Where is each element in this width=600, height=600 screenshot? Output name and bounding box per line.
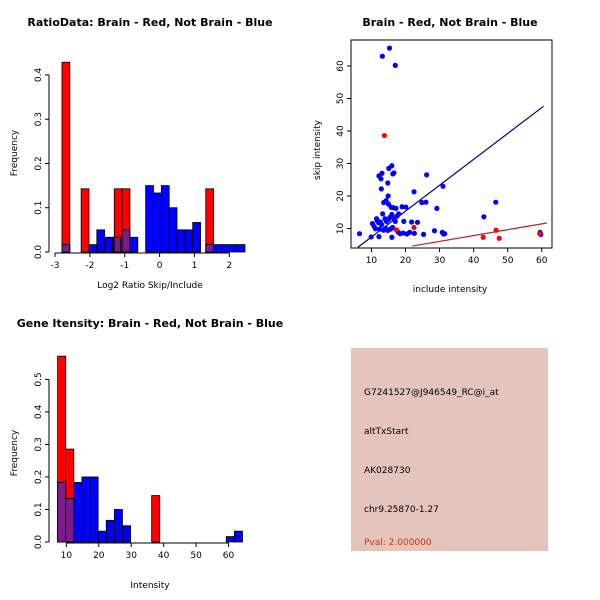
x-tick-label: 20	[93, 551, 105, 561]
y-tick-label: 0.2	[34, 470, 44, 484]
scatter-plot-ylabel: skip intensity	[313, 105, 323, 195]
histogram-bar-not-brain	[122, 526, 130, 542]
x-tick-label: -2	[85, 261, 94, 271]
histogram-bar-overlap	[206, 245, 214, 252]
scatter-point-brain	[411, 225, 416, 230]
scatter-point-brain	[394, 227, 399, 232]
histogram-bar-not-brain	[214, 245, 222, 252]
histogram-bar-not-brain	[89, 245, 97, 252]
scatter-point-not-brain	[401, 219, 406, 224]
scatter-point-not-brain	[409, 219, 414, 224]
y-tick-label: 30	[336, 158, 346, 170]
scatter-point-not-brain	[421, 232, 426, 237]
y-tick-label: 0.3	[34, 112, 44, 126]
x-tick-label: -3	[51, 261, 60, 271]
x-tick-label: 30	[434, 256, 446, 266]
event-type-text: altTxStart	[364, 427, 408, 437]
ratio-histogram-ylabel: Frequency	[10, 108, 20, 198]
histogram-bar-overlap	[66, 499, 74, 542]
scatter-point-not-brain	[378, 176, 383, 181]
histogram-bar-not-brain	[234, 531, 242, 542]
histogram-bar-not-brain	[98, 531, 106, 542]
histogram-bar-overlap	[62, 245, 70, 252]
histogram-bar-not-brain	[90, 477, 98, 542]
x-tick-label: 0	[157, 261, 163, 271]
gene-info-panel: G7241527@J946549_RC@i_at altTxStart AK02…	[351, 348, 548, 551]
histogram-bar-not-brain	[82, 477, 90, 542]
x-tick-label: 60	[536, 256, 548, 266]
scatter-point-not-brain	[387, 46, 392, 51]
scatter-point-not-brain	[393, 206, 398, 211]
histogram-bar-not-brain	[226, 537, 234, 542]
probe-id-text: G7241527@J946549_RC@i_at	[364, 388, 499, 398]
scatter-point-not-brain	[432, 228, 437, 233]
ratio-histogram-xlabel: Log2 Ratio Skip/Include	[0, 281, 300, 291]
scatter-point-not-brain	[424, 172, 429, 177]
y-tick-label: 60	[336, 60, 346, 72]
scatter-point-not-brain	[412, 231, 417, 236]
y-tick-label: 0.4	[34, 404, 44, 419]
histogram-bar-not-brain	[161, 186, 169, 252]
scatter-point-not-brain	[389, 235, 394, 240]
scatter-point-not-brain	[440, 184, 445, 189]
locus-text: chr9.25870-1.27	[364, 505, 439, 515]
gene-intensity-histogram-plot: 1020304050600.00.10.20.30.40.5	[0, 300, 300, 600]
scatter-point-not-brain	[423, 200, 428, 205]
histogram-bar-not-brain	[169, 208, 177, 252]
y-tick-label: 0.4	[34, 67, 44, 82]
scatter-plot-panel: Brain - Red, Not Brain - Blue 1020304050…	[300, 0, 600, 300]
x-tick-label: 1	[192, 261, 198, 271]
histogram-bar-not-brain	[146, 186, 154, 252]
y-tick-label: 20	[336, 190, 346, 202]
x-tick-label: -1	[120, 261, 129, 271]
y-tick-label: 0.5	[34, 372, 44, 386]
x-tick-label: 60	[223, 551, 235, 561]
histogram-bar-brain	[206, 189, 214, 252]
histogram-bar-brain	[152, 496, 160, 542]
trend-line-brain-fit	[412, 223, 547, 246]
scatter-point-not-brain	[379, 171, 384, 176]
scatter-point-not-brain	[391, 170, 396, 175]
scatter-point-brain	[481, 235, 486, 240]
scatter-point-not-brain	[415, 220, 420, 225]
histogram-bar-brain	[81, 189, 89, 252]
histogram-bar-overlap	[114, 237, 120, 252]
y-tick-label: 50	[336, 93, 346, 105]
histogram-bar-not-brain	[97, 230, 105, 252]
scatter-point-brain	[382, 133, 387, 138]
y-tick-label: 10	[336, 223, 346, 235]
scatter-point-not-brain	[380, 54, 385, 59]
gene-intensity-histogram-panel: Gene Itensity: Brain - Red, Not Brain - …	[0, 300, 300, 600]
histogram-bar-not-brain	[221, 245, 229, 252]
scatter-point-not-brain	[386, 193, 391, 198]
scatter-point-not-brain	[434, 206, 439, 211]
histogram-bar-not-brain	[153, 193, 161, 252]
histogram-bar-not-brain	[74, 482, 82, 542]
scatter-point-not-brain	[379, 186, 384, 191]
scatter-point-not-brain	[381, 200, 386, 205]
histogram-bar-not-brain	[229, 245, 237, 252]
ratio-histogram-title: RatioData: Brain - Red, Not Brain - Blue	[0, 16, 300, 29]
plot-content	[357, 46, 547, 248]
scatter-point-not-brain	[393, 219, 398, 224]
histogram-bar-not-brain	[114, 509, 122, 542]
scatter-point-not-brain	[357, 231, 362, 236]
x-tick-label: 10	[366, 256, 378, 266]
scatter-point-not-brain	[481, 214, 486, 219]
scatter-point-not-brain	[407, 230, 412, 235]
scatter-point-not-brain	[442, 231, 447, 236]
gene-intensity-histogram-xlabel: Intensity	[0, 581, 300, 591]
histogram-bar-not-brain	[193, 222, 201, 252]
x-tick-label: 20	[400, 256, 412, 266]
scatter-point-not-brain	[380, 211, 385, 216]
scatter-point-not-brain	[369, 234, 374, 239]
histogram-bar-not-brain	[177, 230, 185, 252]
histogram-bar-not-brain	[185, 230, 193, 252]
gene-intensity-histogram-ylabel: Frequency	[10, 408, 20, 498]
scatter-plot-title: Brain - Red, Not Brain - Blue	[300, 16, 600, 29]
y-tick-label: 0.0	[34, 535, 44, 550]
y-tick-label: 40	[336, 125, 346, 137]
scatter-point-not-brain	[493, 200, 498, 205]
scatter-plot-area: 102030405060102030405060	[300, 0, 600, 300]
scatter-point-not-brain	[411, 189, 416, 194]
x-tick-label: 40	[468, 256, 480, 266]
y-tick-label: 0.0	[34, 245, 44, 260]
scatter-point-not-brain	[403, 204, 408, 209]
plot-group: 102030405060102030405060	[336, 40, 552, 266]
x-tick-label: 10	[61, 551, 73, 561]
x-tick-label: 50	[190, 551, 202, 561]
plot-group: -3-2-10120.00.10.20.30.4	[34, 62, 245, 271]
y-tick-label: 0.1	[34, 502, 44, 516]
scatter-point-not-brain	[379, 222, 384, 227]
y-tick-label: 0.3	[34, 437, 44, 451]
pval-text: Pval: 2.000000	[364, 538, 432, 548]
plot-group: 1020304050600.00.10.20.30.40.5	[34, 356, 242, 561]
histogram-bar-not-brain	[106, 520, 114, 542]
x-tick-label: 50	[502, 256, 514, 266]
y-tick-label: 0.1	[34, 201, 44, 215]
histogram-bar-overlap	[58, 482, 66, 542]
plot-frame	[351, 40, 552, 248]
gene-intensity-histogram-title: Gene Itensity: Brain - Red, Not Brain - …	[0, 317, 300, 330]
scatter-point-not-brain	[385, 180, 390, 185]
y-tick-label: 0.2	[34, 156, 44, 170]
scatter-point-brain	[494, 228, 499, 233]
ratio-histogram-plot: -3-2-10120.00.10.20.30.4	[0, 0, 300, 300]
histogram-bar-overlap	[122, 230, 130, 252]
histogram-bar-not-brain	[105, 237, 113, 252]
scatter-point-brain	[537, 231, 542, 236]
x-tick-label: 30	[126, 551, 138, 561]
scatter-point-brain	[497, 236, 502, 241]
scatter-plot-xlabel: include intensity	[300, 285, 600, 295]
histogram-bar-not-brain	[130, 237, 138, 252]
histogram-bar-brain	[62, 62, 70, 252]
ratio-histogram-panel: RatioData: Brain - Red, Not Brain - Blue…	[0, 0, 300, 300]
accession-text: AK028730	[364, 466, 410, 476]
x-tick-label: 40	[158, 551, 170, 561]
scatter-point-not-brain	[393, 63, 398, 68]
scatter-point-not-brain	[376, 234, 381, 239]
scatter-point-not-brain	[396, 211, 401, 216]
scatter-point-not-brain	[389, 163, 394, 168]
x-tick-label: 2	[226, 261, 232, 271]
histogram-bar-not-brain	[237, 245, 245, 252]
